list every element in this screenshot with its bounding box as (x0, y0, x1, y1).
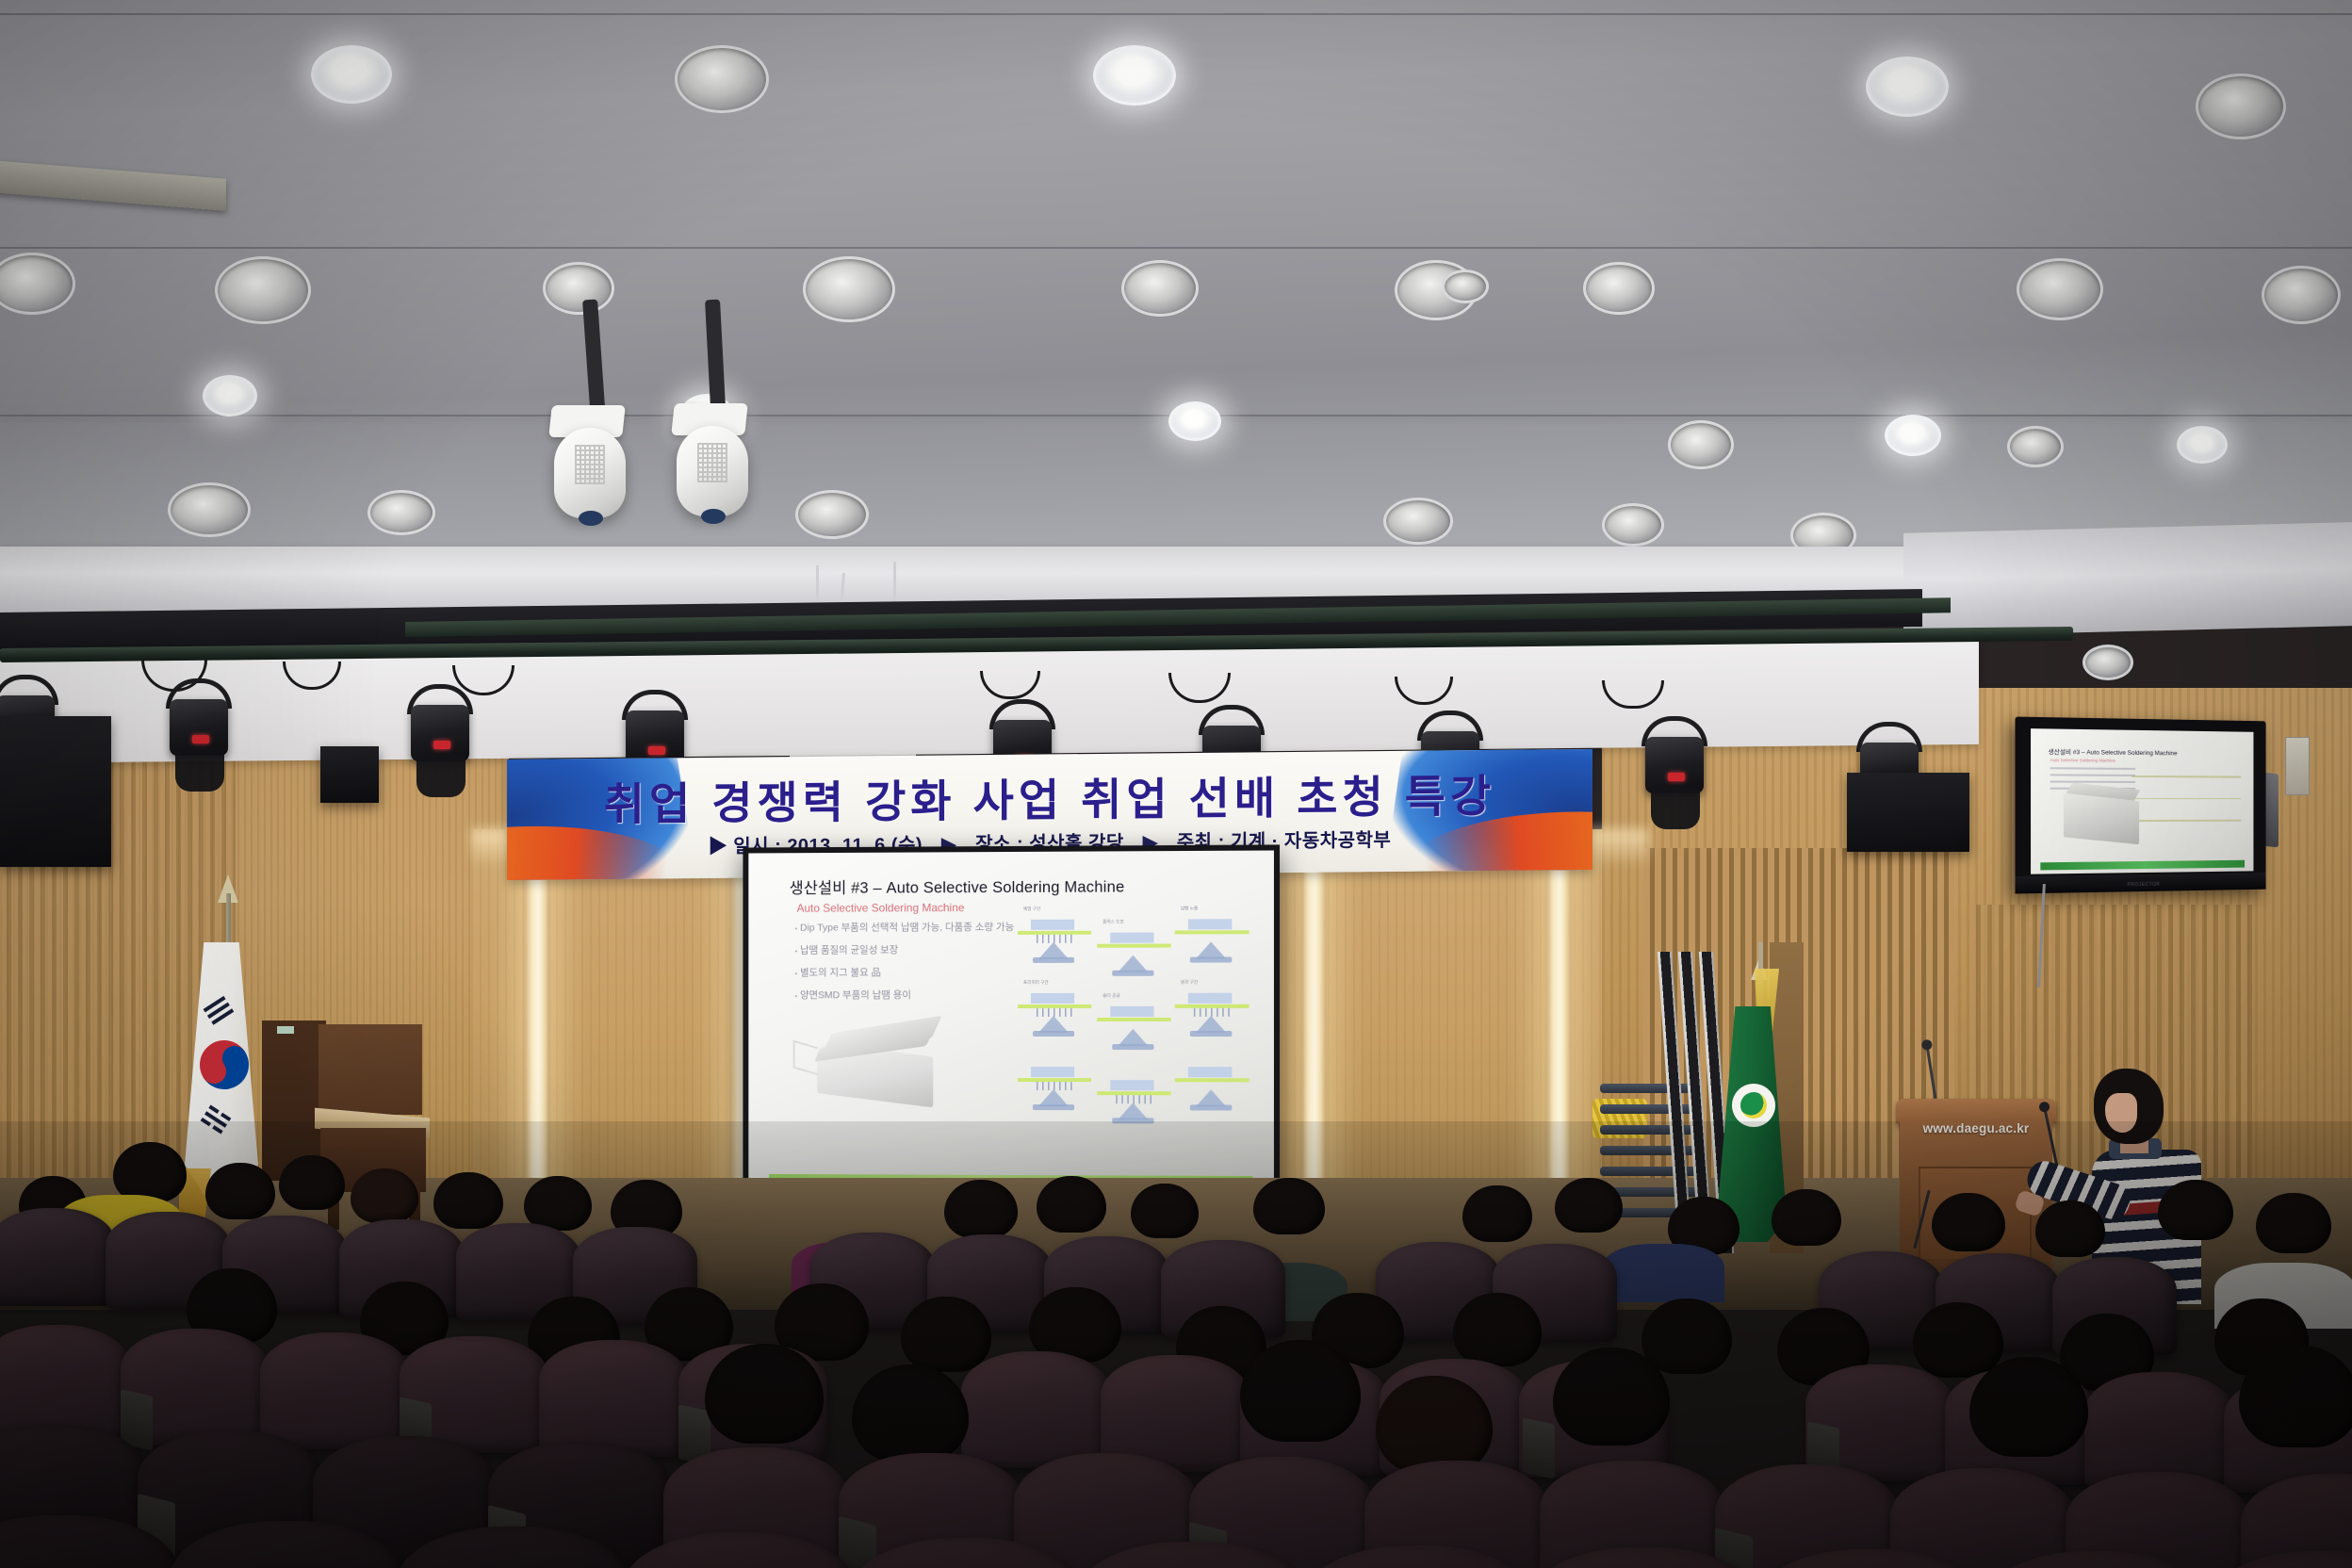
diagram-base (1190, 1031, 1232, 1037)
audience-head (705, 1344, 824, 1444)
downlight-off (367, 490, 435, 535)
diagram-row (1012, 1061, 1255, 1117)
diagram-board (1031, 920, 1074, 930)
downlight-off (168, 482, 251, 537)
seat (0, 1208, 115, 1306)
par-can-light (1638, 716, 1711, 803)
auditorium-scene: 취업 경쟁력 강화 사업 취업 선배 초청 특강 ▶ 일시 : 2013. 11… (0, 0, 2352, 1568)
piano-label (277, 1026, 294, 1034)
audience-head (1376, 1376, 1493, 1474)
diagram-unit (1097, 1074, 1171, 1121)
ceiling-seam (0, 13, 2352, 15)
downlight-off (2196, 73, 2286, 139)
downlight-off (2082, 645, 2133, 680)
tv-diagram-line (2131, 820, 2241, 822)
podium-top (1896, 1099, 2056, 1123)
slide-title: 생산설비 #3 – Auto Selective Soldering Machi… (790, 874, 1125, 898)
audience-seating (0, 1121, 2352, 1568)
audience-head (2035, 1200, 2105, 1257)
seat (260, 1332, 409, 1449)
slide-bullet: Dip Type 부품의 선택적 납땜 가능, 다품종 소량 가능 (795, 920, 1010, 935)
downlight-off (675, 45, 769, 113)
diagram-board (1110, 933, 1153, 943)
audience-head (1913, 1302, 2003, 1378)
mount-arm (582, 299, 605, 413)
tv-brand-label: PROJECTOR (2128, 882, 2161, 889)
seat (539, 1340, 688, 1457)
tv-footer-band (2040, 860, 2245, 871)
wall-tv-monitor: 생산설비 #3 – Auto Selective Soldering Machi… (2015, 717, 2265, 894)
downlight-off (1442, 269, 1489, 303)
slide-process-diagram: 예열 구간 플럭스 도포 납땜 (1012, 913, 1255, 1132)
tv-screen: 생산설비 #3 – Auto Selective Soldering Machi… (2031, 728, 2253, 874)
diagram-label: 예열 구간 (1023, 906, 1040, 912)
diagram-board (1031, 993, 1074, 1004)
audience-head (1131, 1184, 1199, 1238)
diagram-unit: 냉각 구간 (1175, 988, 1249, 1035)
audience-head (2256, 1193, 2331, 1253)
audience-head (279, 1155, 345, 1210)
audience-head (1453, 1293, 1542, 1366)
downlight-off (0, 253, 75, 315)
downlight-on (1866, 57, 1949, 117)
diagram-base (1112, 971, 1153, 976)
unit-grille (575, 445, 605, 484)
downlight-on (1885, 415, 1941, 456)
pa-speaker (1847, 773, 1969, 852)
audience-head (2239, 1346, 2352, 1447)
par-barndoor (416, 754, 465, 797)
diagram-base (1033, 957, 1074, 963)
downlight-off (1383, 498, 1453, 545)
diagram-label: 솔더 공급 (1102, 993, 1119, 999)
diagram-label: 납땜 노즐 (1181, 906, 1198, 911)
downlight-off (2007, 426, 2064, 467)
diagram-base (1033, 1031, 1074, 1037)
par-housing (170, 699, 228, 756)
audience-shoulder (1602, 1244, 1724, 1302)
ceiling-soffit-right (1903, 522, 2352, 637)
tv-slide-title: 생산설비 #3 – Auto Selective Soldering Machi… (2049, 746, 2178, 758)
unit-lens (579, 511, 603, 526)
audience-head (113, 1142, 187, 1202)
diagram-conveyor (1175, 1078, 1249, 1082)
diagram-unit (1175, 1061, 1249, 1108)
par-indicator-led (1668, 773, 1685, 781)
audience-head (944, 1180, 1018, 1238)
diagram-row: 프리히터 구간 솔더 공급 냉 (1012, 988, 1255, 1042)
downlight-off (2017, 258, 2103, 320)
unit-head (677, 426, 748, 516)
piano-lid (318, 1024, 422, 1115)
pa-speaker (320, 746, 379, 803)
par-barndoor (1651, 786, 1700, 829)
diagram-unit: 예열 구간 (1018, 914, 1091, 961)
audience-head (205, 1163, 275, 1219)
banner-title: 취업 경쟁력 강화 사업 취업 선배 초청 특강 (507, 759, 1592, 834)
audience-head (1240, 1340, 1361, 1442)
slide-bullet-list: Dip Type 부품의 선택적 납땜 가능, 다품종 소량 가능 납땜 품질의… (795, 920, 1010, 1010)
seat-armrest (1523, 1417, 1555, 1478)
ceiling-seam (0, 247, 2352, 249)
downlight-on (311, 45, 392, 104)
downlight-on (1168, 401, 1221, 441)
diagram-board (1188, 993, 1233, 1004)
downlight-off (1583, 262, 1655, 315)
downlight-off (543, 262, 614, 315)
diagram-unit (1018, 1061, 1091, 1108)
par-indicator-led (433, 741, 450, 749)
downlight-off (1121, 260, 1199, 317)
audience-head (852, 1364, 969, 1462)
ceiling (0, 0, 2352, 584)
diagram-board (1188, 1067, 1233, 1077)
downlight-off (803, 256, 895, 322)
downlight-on (1093, 45, 1176, 106)
tv-diagram-line (2131, 797, 2241, 799)
diagram-board (1110, 1080, 1153, 1090)
audience-head (1037, 1176, 1106, 1233)
diagram-conveyor (1097, 944, 1171, 948)
tv-bullet-line (2050, 781, 2136, 783)
audience-head (1253, 1178, 1325, 1234)
tv-machine-photo (2064, 793, 2139, 845)
par-can-light (403, 684, 477, 771)
wall-equipment-box (2285, 737, 2310, 795)
banner-marker-date: ▶ (709, 837, 728, 857)
diagram-unit: 납땜 노즐 (1175, 913, 1249, 961)
audience-head (1555, 1178, 1623, 1233)
audience-head (1641, 1298, 1732, 1374)
tv-slide-diagram (2131, 776, 2241, 842)
par-barndoor (175, 748, 224, 792)
downlight-off (1602, 503, 1664, 547)
diagram-unit: 플럭스 도포 (1097, 926, 1171, 973)
diagram-base (1190, 1104, 1232, 1110)
audience-head (1553, 1347, 1670, 1445)
slide-bullet: 양면SMD 부품의 납땜 용이 (795, 988, 1010, 1002)
downlight-off (795, 490, 869, 539)
diagram-conveyor (1175, 930, 1249, 934)
diagram-row: 예열 구간 플럭스 도포 납땜 (1012, 913, 1255, 969)
seat (961, 1351, 1110, 1468)
par-can-light (162, 678, 236, 765)
unit-grille (697, 443, 727, 482)
diagram-board (1188, 919, 1233, 929)
par-housing (1645, 737, 1704, 793)
audience-head (1932, 1193, 2005, 1251)
unit-head (554, 428, 626, 518)
par-indicator-led (648, 746, 665, 755)
audience-head (351, 1168, 418, 1223)
trigram-geon (204, 996, 237, 1028)
diagram-base (1112, 1044, 1153, 1050)
slide-machine-photo (804, 1018, 954, 1112)
audience-head (901, 1297, 991, 1372)
par-housing (411, 705, 469, 761)
audience-head (1969, 1357, 2088, 1457)
tv-bullet-line (2050, 767, 2136, 770)
downlight-on (203, 375, 257, 416)
tv-slide-subtitle: Auto Selective Soldering Machine (2050, 758, 2115, 763)
pa-speaker (0, 716, 111, 867)
downlight-off (1668, 420, 1734, 469)
diagram-conveyor (1097, 1018, 1171, 1021)
diagram-label: 플럭스 도포 (1102, 920, 1124, 925)
audience-head (1462, 1185, 1532, 1242)
downlight-off (2262, 266, 2341, 324)
par-indicator-led (192, 735, 209, 743)
diagram-unit: 프리히터 구간 (1018, 988, 1091, 1035)
audience-head (1772, 1189, 1841, 1246)
slide-bullet: 납땜 품질의 균일성 보장 (795, 942, 1010, 957)
diagram-base (1033, 1104, 1074, 1110)
diagram-label: 냉각 구간 (1181, 980, 1198, 986)
diagram-label: 프리히터 구간 (1023, 980, 1049, 986)
tv-diagram-line (2131, 776, 2241, 777)
downlight-on (2177, 426, 2228, 464)
diagram-board (1031, 1067, 1074, 1077)
diagram-unit: 솔더 공급 (1097, 1001, 1171, 1048)
tv-bullet-line (2050, 774, 2136, 776)
slide-subtitle: Auto Selective Soldering Machine (797, 901, 965, 915)
unit-lens (701, 509, 726, 524)
audience-head (2158, 1180, 2233, 1240)
downlight-off (215, 256, 311, 324)
slide-bullet: 별도의 지그 불요 品 (795, 965, 1010, 979)
diagram-base (1190, 956, 1232, 962)
diagram-board (1110, 1006, 1153, 1017)
audience-head (433, 1172, 503, 1229)
audience-head (524, 1176, 592, 1231)
